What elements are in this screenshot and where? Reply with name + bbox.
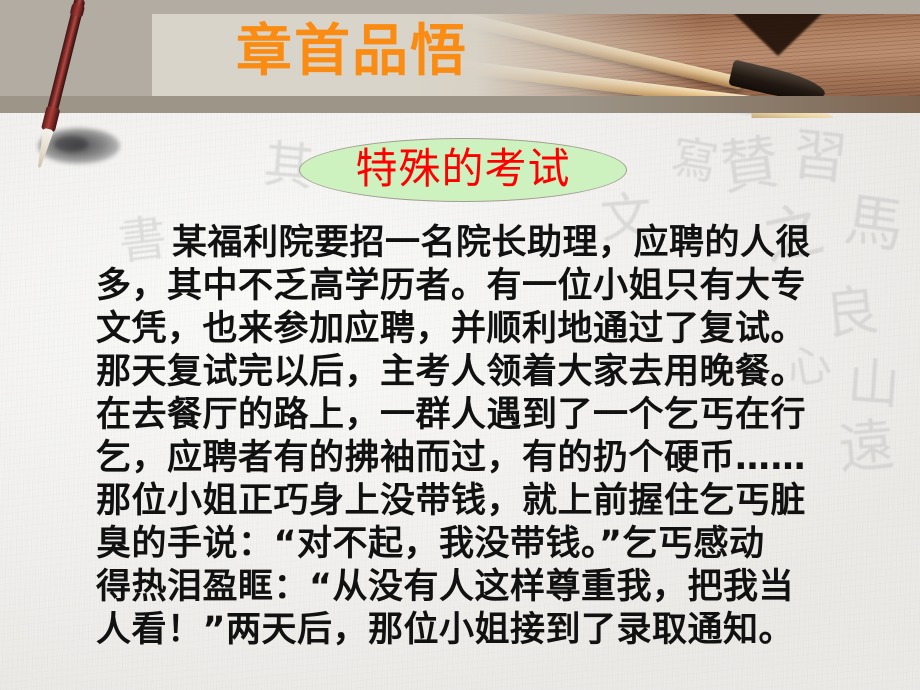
story-text-line: 乞，应聘者有的拂袖而过，有的扔个硬币……	[96, 437, 836, 480]
banner-bottom-band	[0, 96, 920, 113]
ink-stain-core	[54, 136, 88, 152]
story-text-line: 文凭，也来参加应聘，并顺利地通过了复试。	[96, 308, 836, 351]
subtitle-ellipse-shape: 特殊的考试	[299, 138, 627, 202]
story-text-block: 某福利院要招一名院长助理，应聘的人很多，其中不乏高学历者。有一位小姐只有大专文凭…	[96, 222, 836, 652]
dark-inkstone-shape	[730, 10, 826, 56]
slide-header-banner: 章首品悟	[0, 0, 920, 118]
story-text-line: 得热泪盈眶：“从没有人这样尊重我，把我当	[96, 566, 836, 609]
slide-canvas: 賛習文之馬良山遠其書寫心 章首品悟 特殊的考试 某福利院要招一名院长助理，应聘的…	[0, 0, 920, 690]
page-title: 章首品悟	[236, 20, 656, 84]
subtitle-text: 特殊的考试	[355, 147, 570, 191]
story-text-line: 那天复试完以后，主考人领着大家去用晚餐。	[96, 351, 836, 394]
story-text-line: 在去餐厅的路上，一群人遇到了一个乞丐在行	[96, 394, 836, 437]
story-text-line: 臭的手说：“对不起，我没带钱。”乞丐感动	[96, 523, 836, 566]
watermark-character: 馬	[840, 172, 909, 263]
watermark-character: 遠	[835, 400, 898, 486]
banner-top-strip	[0, 0, 920, 14]
story-text-line: 某福利院要招一名院长助理，应聘的人很	[96, 222, 836, 265]
story-text-line: 人看！”两天后，那位小姐接到了录取通知。	[96, 609, 836, 652]
story-text-line: 多，其中不乏高学历者。有一位小姐只有大专	[96, 265, 836, 308]
story-text-line: 那位小姐正巧身上没带钱，就上前握住乞丐脏	[96, 480, 836, 523]
